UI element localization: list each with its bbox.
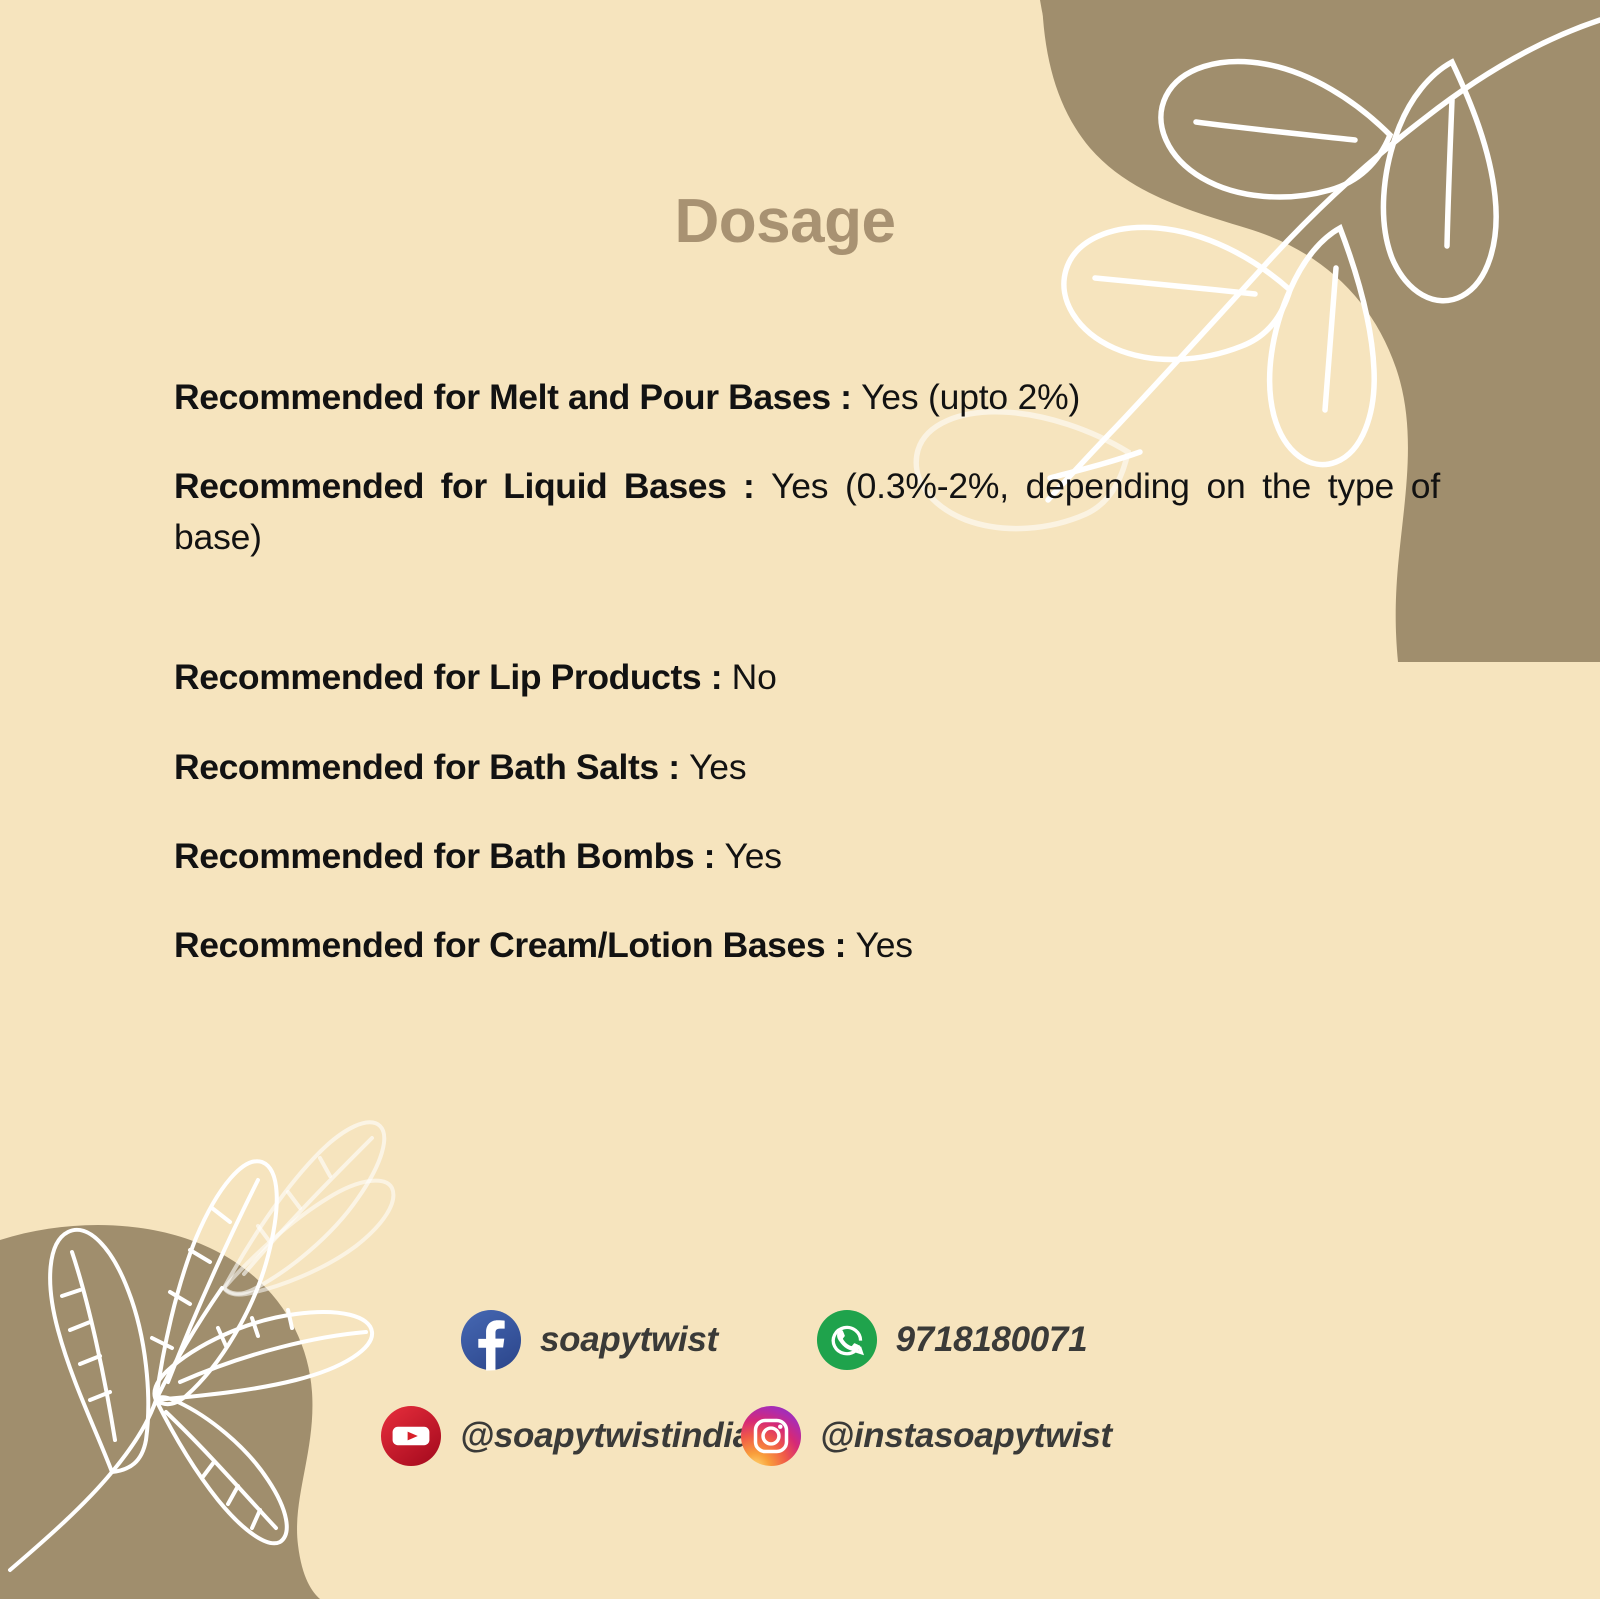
dosage-item-bath-salts: Recommended for Bath Salts : Yes xyxy=(174,742,1440,793)
dosage-label: Recommended for Liquid Bases : xyxy=(174,466,771,506)
dosage-value: Yes xyxy=(856,925,913,965)
bottom-left-leaf-branch xyxy=(10,1122,393,1570)
dosage-item-lip-products: Recommended for Lip Products : No xyxy=(174,652,1440,703)
social-links: soapytwist 9718180071 xyxy=(370,1292,1270,1484)
social-link-whatsapp[interactable]: 9718180071 xyxy=(816,1309,1270,1371)
social-handle: @soapytwistindia xyxy=(460,1416,752,1456)
youtube-icon[interactable] xyxy=(380,1405,442,1467)
bottom-left-blob xyxy=(0,1225,320,1599)
dosage-label: Recommended for Melt and Pour Bases : xyxy=(174,377,861,417)
social-handle: 9718180071 xyxy=(896,1320,1088,1360)
instagram-icon[interactable] xyxy=(740,1405,802,1467)
dosage-value: Yes xyxy=(725,836,782,876)
dosage-poster: Dosage Recommended for Melt and Pour Bas… xyxy=(0,0,1600,1599)
dosage-value: Yes xyxy=(689,747,746,787)
facebook-icon[interactable] xyxy=(460,1309,522,1371)
social-link-instagram[interactable]: @instasoapytwist xyxy=(740,1405,1200,1467)
dosage-item-bath-bombs: Recommended for Bath Bombs : Yes xyxy=(174,831,1440,882)
dosage-item-cream-lotion-bases: Recommended for Cream/Lotion Bases : Yes xyxy=(174,920,1440,971)
dosage-label: Recommended for Bath Bombs : xyxy=(174,836,725,876)
page-title: Dosage xyxy=(0,186,1570,257)
dosage-item-melt-and-pour: Recommended for Melt and Pour Bases : Ye… xyxy=(174,372,1440,423)
social-row-1: soapytwist 9718180071 xyxy=(370,1292,1270,1388)
dosage-value: Yes (upto 2%) xyxy=(861,377,1080,417)
dosage-label: Recommended for Bath Salts : xyxy=(174,747,689,787)
dosage-label: Recommended for Cream/Lotion Bases : xyxy=(174,925,856,965)
whatsapp-icon[interactable] xyxy=(816,1309,878,1371)
social-handle: soapytwist xyxy=(540,1320,718,1360)
dosage-item-liquid-bases: Recommended for Liquid Bases : Yes (0.3%… xyxy=(174,461,1440,614)
social-handle: @instasoapytwist xyxy=(820,1416,1112,1456)
social-link-facebook[interactable]: soapytwist xyxy=(370,1309,816,1371)
dosage-label: Recommended for Lip Products : xyxy=(174,657,732,697)
dosage-list: Recommended for Melt and Pour Bases : Ye… xyxy=(174,372,1440,971)
social-row-2: @soapytwistindia xyxy=(370,1388,1270,1484)
social-link-youtube[interactable]: @soapytwistindia xyxy=(370,1405,740,1467)
dosage-value: No xyxy=(732,657,777,697)
